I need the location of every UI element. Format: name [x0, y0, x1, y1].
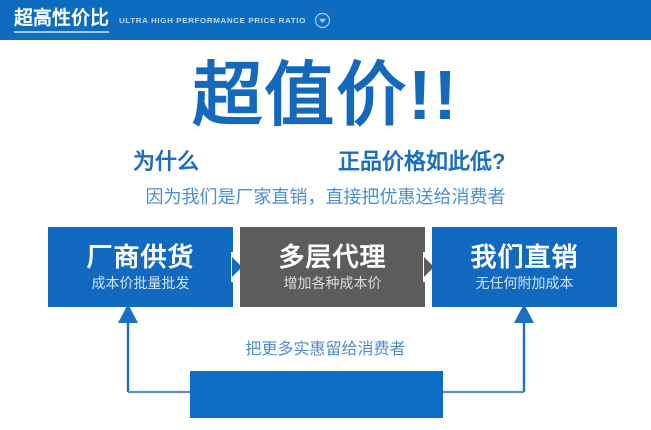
flow-box-subtitle: 成本价批量批发: [92, 273, 190, 293]
flow-box-subtitle: 增加各种成本价: [284, 273, 382, 293]
flow-box-title: 我们直销: [470, 242, 578, 272]
header-subtitle: ULTRA HIGH PERFORMANCE PRICE RATIO: [119, 16, 306, 24]
answer-line: 因为我们是厂家直销，直接把优惠送给消费者: [0, 185, 651, 209]
chevron-down-circle-icon[interactable]: [314, 12, 331, 29]
promo-banner: 超高性价比 ULTRA HIGH PERFORMANCE PRICE RATIO…: [0, 0, 651, 430]
page-title: 超值价!!: [0, 56, 651, 134]
flow-box-direct-sales: 我们直销 无任何附加成本: [432, 227, 617, 307]
header-bar: 超高性价比 ULTRA HIGH PERFORMANCE PRICE RATIO: [0, 0, 651, 40]
question-row: 为什么 正品价格如此低?: [0, 148, 651, 176]
flow-box-supplier: 厂商供货 成本价批量批发: [48, 227, 233, 307]
flow-box-title: 厂商供货: [86, 242, 194, 272]
flow-box-title: 多层代理: [278, 242, 386, 272]
header-title: 超高性价比: [14, 8, 109, 33]
bottom-highlight-bar: [190, 371, 443, 418]
flow-box-subtitle: 无任何附加成本: [476, 273, 574, 293]
flow-box-middlemen: 多层代理 增加各种成本价: [240, 227, 425, 307]
bottom-note: 把更多实惠留给消费者: [0, 339, 651, 361]
question-left: 为什么: [133, 148, 199, 176]
question-right: 正品价格如此低?: [338, 148, 505, 176]
